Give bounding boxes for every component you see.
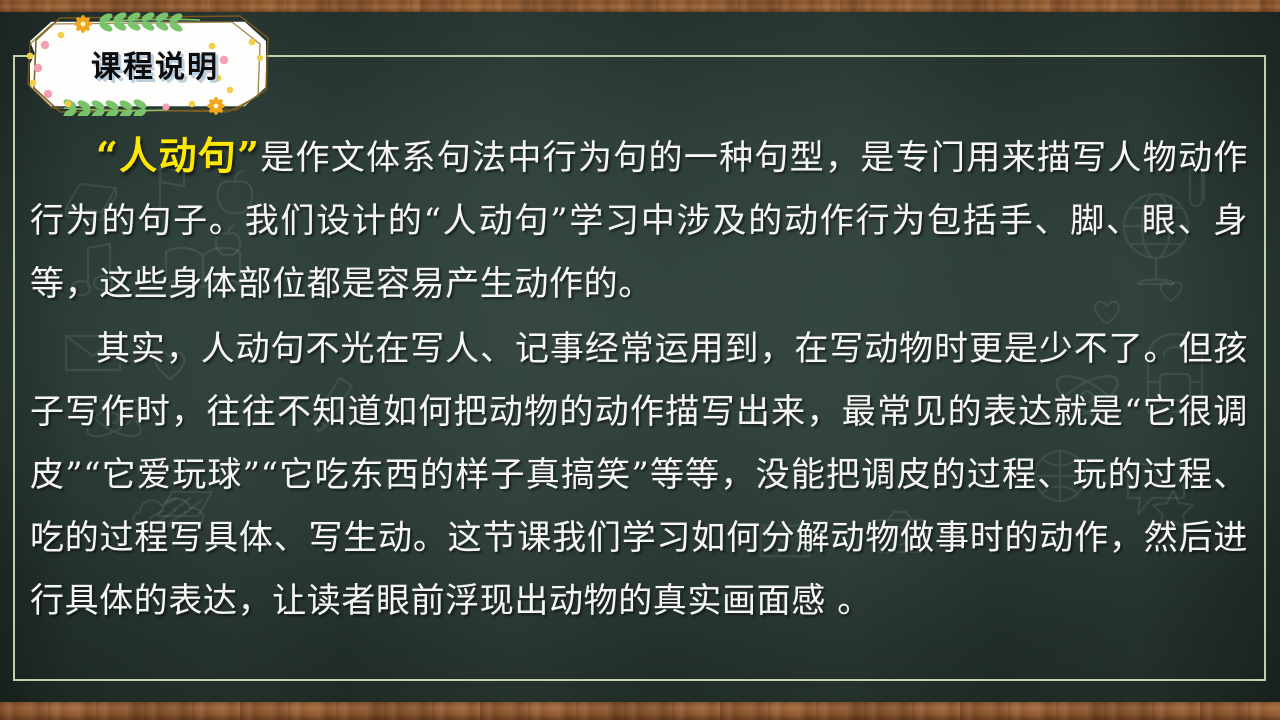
slide-root: 课程说明 “人动句”是作文体系句法中行为句的一种句型，是专门用来描写人物动作行为… xyxy=(0,0,1280,720)
paragraph-1: “人动句”是作文体系句法中行为句的一种句型，是专门用来描写人物动作行为的句子。我… xyxy=(30,124,1248,316)
badge-title-text: 课程说明 xyxy=(30,20,266,108)
lesson-description-body: “人动句”是作文体系句法中行为句的一种句型，是专门用来描写人物动作行为的句子。我… xyxy=(30,124,1248,635)
paragraph-1-highlight: “人动句” xyxy=(96,133,260,178)
paragraph-2: 其实，人动句不光在写人、记事经常运用到，在写动物时更是少不了。但孩子写作时，往往… xyxy=(30,318,1248,633)
wood-frame-bottom xyxy=(0,702,1280,720)
title-badge: 课程说明 xyxy=(16,12,278,116)
wood-frame-top xyxy=(0,0,1280,12)
